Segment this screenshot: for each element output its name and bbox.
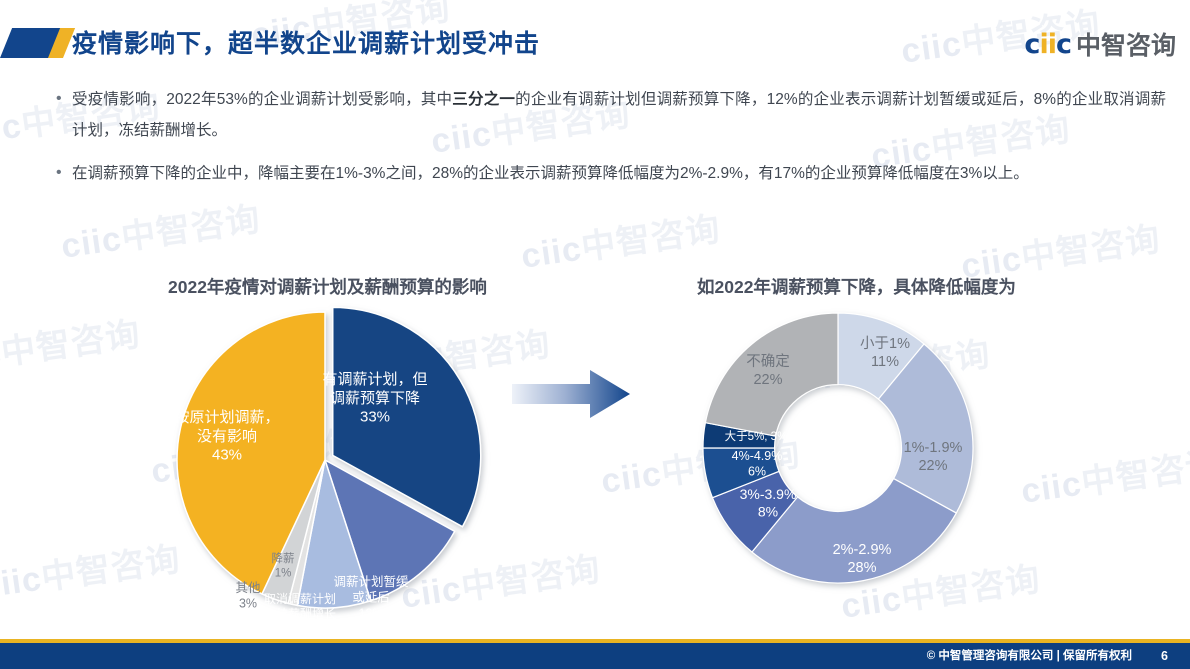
bullet-seg: 受疫情影响，2022年53%的企业调薪计划受影响，其中 bbox=[72, 91, 452, 108]
impact-pie-svg: 有调薪计划，但调薪预算下降33%调薪计划暂缓或延后12%取消调薪计划冻结薪酬增长… bbox=[155, 300, 515, 620]
decrease-donut-svg: 小于1%11%1%-1.9%22%2%-2.9%28%3%-3.9%8%4%-4… bbox=[690, 300, 990, 600]
decrease-donut-chart: 小于1%11%1%-1.9%22%2%-2.9%28%3%-3.9%8%4%-4… bbox=[690, 300, 990, 600]
slide-header: 疫情影响下，超半数企业调薪计划受冲击 bbox=[0, 24, 1190, 64]
footer-copyright: © 中智管理咨询有限公司 | 保留所有权利 bbox=[927, 643, 1132, 669]
slice-label: 其他3% bbox=[235, 581, 261, 611]
slice-label: 取消调薪计划冻结薪酬增长8% bbox=[264, 592, 336, 636]
logo-text: 中智咨询 bbox=[1076, 26, 1176, 62]
page-number: 6 bbox=[1161, 643, 1168, 669]
logo-mark: ciic bbox=[1024, 29, 1071, 60]
bullet-text: 在调薪预算下降的企业中，降幅主要在1%-3%之间，28%的企业表示调薪预算降低幅… bbox=[72, 158, 1029, 189]
bullet-item: • 受疫情影响，2022年53%的企业调薪计划受影响，其中三分之一的企业有调薪计… bbox=[56, 84, 1166, 146]
slice-label: 大于5%, 3% bbox=[725, 429, 788, 443]
page-title: 疫情影响下，超半数企业调薪计划受冲击 bbox=[72, 24, 540, 64]
bullet-item: • 在调薪预算下降的企业中，降幅主要在1%-3%之间，28%的企业表示调薪预算降… bbox=[56, 158, 1166, 189]
slide-root: ciic中智咨询 ciic中智咨询 ciic中智咨询 ciic中智咨询 ciic… bbox=[0, 0, 1190, 669]
bullet-seg-bold: 三分之一 bbox=[452, 91, 515, 108]
bullet-marker: • bbox=[56, 158, 72, 189]
bullet-seg: 在调薪预算下降的企业中，降幅主要在1%-3%之间，28%的企业表示调薪预算降低幅… bbox=[72, 165, 1029, 182]
right-arrow-icon bbox=[512, 366, 632, 422]
chart-title-right: 如2022年调薪预算下降，具体降低幅度为 bbox=[697, 274, 1016, 299]
ciic-logo: ciic 中智咨询 bbox=[1024, 26, 1176, 62]
bullet-list: • 受疫情影响，2022年53%的企业调薪计划受影响，其中三分之一的企业有调薪计… bbox=[56, 84, 1166, 201]
impact-pie-chart: 有调薪计划，但调薪预算下降33%调薪计划暂缓或延后12%取消调薪计划冻结薪酬增长… bbox=[155, 300, 515, 620]
bullet-text: 受疫情影响，2022年53%的企业调薪计划受影响，其中三分之一的企业有调薪计划但… bbox=[72, 84, 1166, 146]
chart-title-left: 2022年疫情对调薪计划及薪酬预算的影响 bbox=[168, 274, 487, 299]
bullet-marker: • bbox=[56, 84, 72, 146]
